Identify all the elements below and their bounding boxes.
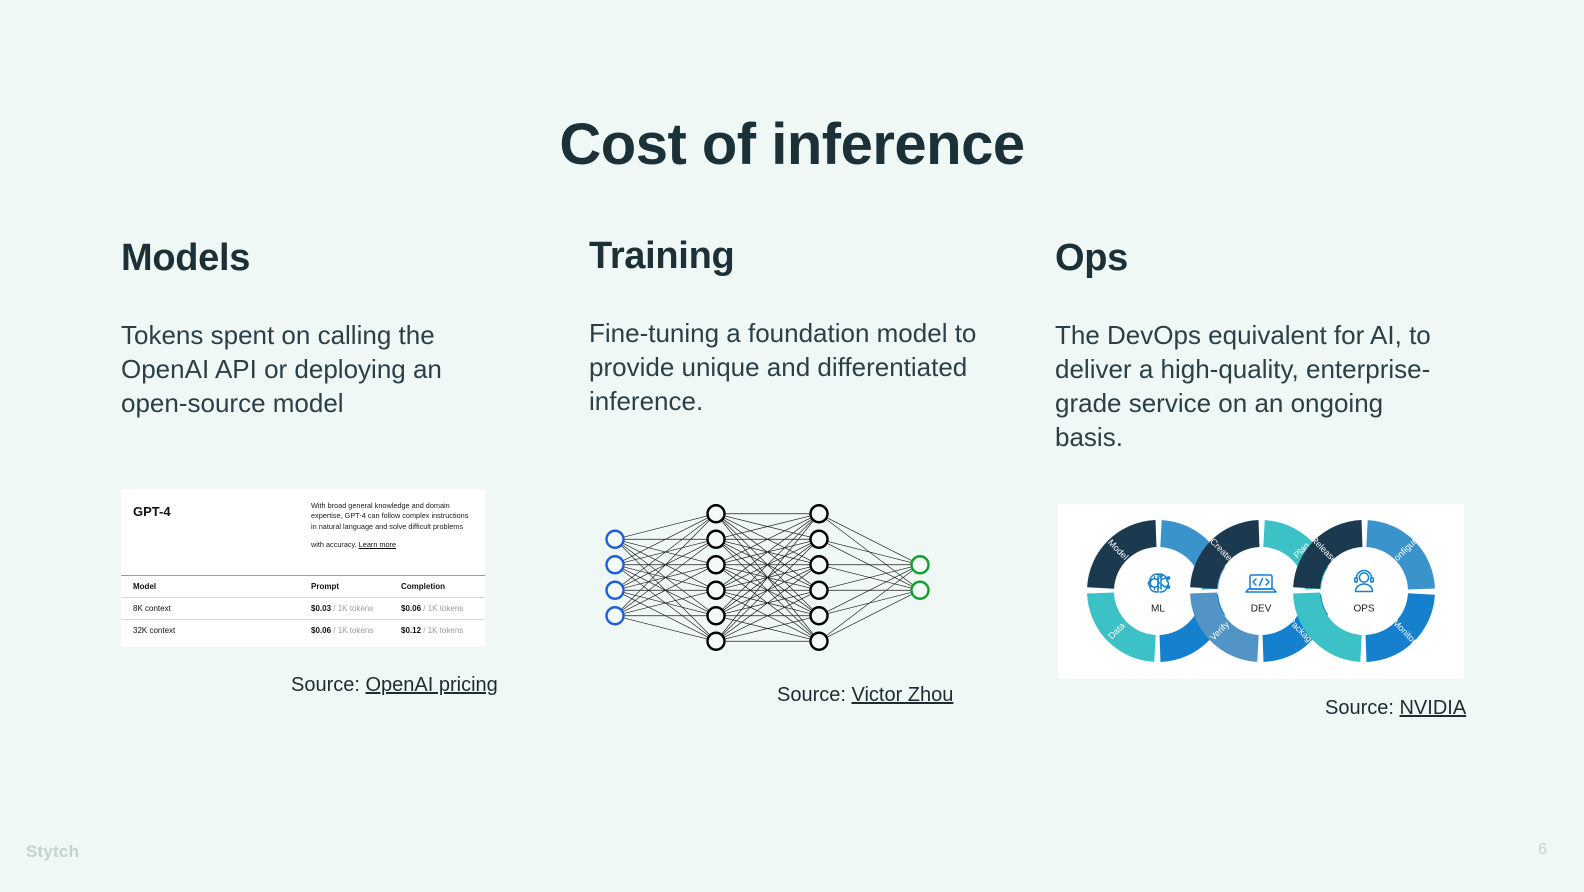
completion-amount: $0.06 — [401, 604, 421, 613]
prompt-amount: $0.06 — [311, 626, 331, 635]
neural-network-node-hidden2 — [811, 556, 828, 573]
neural-network-node-hidden2 — [811, 633, 828, 650]
column-heading-models: Models — [121, 238, 501, 280]
gpt4-pricing-card: GPT-4 With broad general knowledge and d… — [121, 489, 485, 647]
cell-prompt: $0.03 / 1K tokens — [299, 598, 389, 620]
source-line-models: Source: OpenAI pricing — [291, 674, 498, 697]
gpt4-description-block: With broad general knowledge and domain … — [311, 501, 473, 575]
column-body-ops: The DevOps equivalent for AI, to deliver… — [1055, 318, 1455, 454]
neural-network-node-hidden1 — [708, 607, 725, 624]
neural-network-edge — [826, 570, 913, 636]
cell-model: 8K context — [121, 598, 299, 620]
cell-completion: $0.06 / 1K tokens — [389, 598, 485, 620]
source-line-ops: Source: NVIDIA — [1325, 697, 1466, 720]
cell-model: 32K context — [121, 620, 299, 642]
column-body-training: Fine-tuning a foundation model to provid… — [589, 316, 979, 418]
source-line-training: Source: Victor Zhou — [777, 684, 953, 707]
gpt4-pricing-table: Model Prompt Completion 8K context $0.03… — [121, 575, 485, 641]
neural-network-node-output — [912, 556, 929, 573]
prompt-unit: / 1K tokens — [331, 604, 373, 613]
neural-network-edge — [827, 541, 912, 562]
source-link-nvidia[interactable]: NVIDIA — [1399, 697, 1466, 719]
mlops-center-label-dev: DEV — [1251, 604, 1272, 615]
completion-unit: / 1K tokens — [421, 604, 463, 613]
column-training: Training Fine-tuning a foundation model … — [589, 236, 979, 418]
neural-network-node-hidden1 — [708, 633, 725, 650]
neural-network-node-input — [607, 607, 624, 624]
neural-network-node-output — [912, 582, 929, 599]
mlops-ring-center-disc — [1218, 548, 1304, 634]
neural-network-node-input — [607, 582, 624, 599]
prompt-amount: $0.03 — [311, 604, 331, 613]
mlops-svg: ModelDataMLCreatePlanVerifyPackageDEVRel… — [1058, 504, 1464, 679]
cell-prompt: $0.06 / 1K tokens — [299, 620, 389, 642]
neural-network-node-hidden1 — [708, 556, 725, 573]
table-row: 32K context $0.06 / 1K tokens $0.12 / 1K… — [121, 620, 485, 642]
neural-network-edge — [827, 594, 913, 637]
source-prefix: Source: — [291, 674, 365, 696]
brand-logo-stytch: Stytch — [26, 842, 79, 862]
prompt-unit: / 1K tokens — [331, 626, 373, 635]
neural-network-edge — [622, 519, 709, 585]
column-ops: Ops The DevOps equivalent for AI, to del… — [1055, 238, 1455, 454]
table-header-row: Model Prompt Completion — [121, 576, 485, 598]
neural-network-edges — [621, 514, 913, 642]
neural-network-edge — [623, 516, 708, 537]
column-header-completion: Completion — [389, 576, 485, 598]
source-prefix: Source: — [777, 684, 851, 706]
table-row: 8K context $0.03 / 1K tokens $0.06 / 1K … — [121, 598, 485, 620]
source-link-openai-pricing[interactable]: OpenAI pricing — [365, 674, 497, 696]
neural-network-node-hidden2 — [811, 505, 828, 522]
neural-network-edge — [623, 618, 708, 639]
neural-network-node-hidden2 — [811, 582, 828, 599]
neural-network-node-input — [607, 556, 624, 573]
completion-unit: / 1K tokens — [421, 626, 463, 635]
source-link-victor-zhou[interactable]: Victor Zhou — [851, 684, 953, 706]
gpt4-learn-more-link[interactable]: Learn more — [359, 540, 396, 550]
gpt4-card-header: GPT-4 With broad general knowledge and d… — [121, 489, 485, 575]
neural-network-edge — [827, 518, 913, 561]
mlops-diagram: ModelDataMLCreatePlanVerifyPackageDEVRel… — [1058, 504, 1464, 679]
slide-canvas: Cost of inference Models Tokens spent on… — [0, 0, 1584, 892]
neural-network-node-hidden2 — [811, 607, 828, 624]
mlops-rings: ModelDataMLCreatePlanVerifyPackageDEVRel… — [1087, 520, 1435, 662]
column-body-models: Tokens spent on calling the OpenAI API o… — [121, 318, 501, 420]
column-header-model: Model — [121, 576, 299, 598]
column-heading-ops: Ops — [1055, 238, 1455, 280]
column-heading-training: Training — [589, 236, 979, 278]
page-number: 6 — [1538, 841, 1547, 859]
page-title: Cost of inference — [0, 111, 1584, 178]
neural-network-node-hidden1 — [708, 582, 725, 599]
neural-network-node-hidden2 — [811, 531, 828, 548]
mlops-center-label-ops: OPS — [1353, 604, 1374, 615]
source-prefix: Source: — [1325, 697, 1399, 719]
neural-network-diagram — [598, 500, 934, 655]
neural-network-node-hidden1 — [708, 505, 725, 522]
mlops-ring-ml: ModelDataML — [1087, 520, 1229, 662]
gpt4-model-name: GPT-4 — [133, 501, 311, 575]
completion-amount: $0.12 — [401, 626, 421, 635]
column-header-prompt: Prompt — [299, 576, 389, 598]
mlops-ring-ops: ReleaseConfigureMonitorOPS — [1293, 520, 1435, 662]
column-models: Models Tokens spent on calling the OpenA… — [121, 238, 501, 420]
neural-network-node-input — [607, 531, 624, 548]
neural-network-svg — [598, 500, 934, 655]
mlops-center-label-ml: ML — [1151, 604, 1165, 615]
cell-completion: $0.12 / 1K tokens — [389, 620, 485, 642]
neural-network-node-hidden1 — [708, 531, 725, 548]
